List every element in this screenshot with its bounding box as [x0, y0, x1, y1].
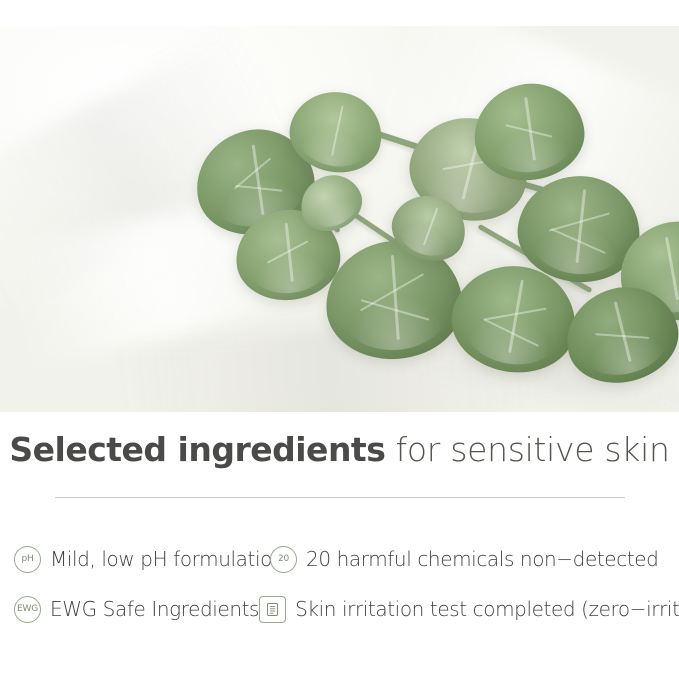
feature-list: pH Mild, low pH formulation 20 20 harmfu… [14, 534, 665, 634]
feature-label: EWG Safe Ingredients [50, 597, 259, 621]
twenty-badge-icon: 20 [270, 546, 297, 573]
feature-label: Skin irritation test completed (zero−irr… [295, 597, 679, 621]
page-title: Selected ingredients for sensitive skin [0, 430, 679, 469]
feature-item-ewg: EWG EWG Safe Ingredients [14, 596, 259, 623]
title-divider [55, 497, 625, 498]
feature-item-irritation-test: Skin irritation test completed (zero−irr… [259, 596, 679, 623]
feature-item-twenty: 20 20 harmful chemicals non−detected [270, 546, 658, 573]
hero-photo [0, 26, 679, 412]
document-badge-icon [259, 596, 286, 623]
feature-label: Mild, low pH formulation [50, 547, 284, 571]
headline-light: for sensitive skin [385, 430, 669, 469]
ph-badge-icon: pH [14, 546, 41, 573]
feature-row: pH Mild, low pH formulation 20 20 harmfu… [14, 534, 665, 584]
feature-item-ph: pH Mild, low pH formulation [14, 546, 270, 573]
feature-row: EWG EWG Safe Ingredients Skin irritation… [14, 584, 665, 634]
ewg-badge-icon: EWG [14, 596, 41, 623]
product-detail-page: Selected ingredients for sensitive skin … [0, 0, 679, 679]
feature-label: 20 harmful chemicals non−detected [306, 547, 658, 571]
headline-strong: Selected ingredients [9, 430, 385, 469]
